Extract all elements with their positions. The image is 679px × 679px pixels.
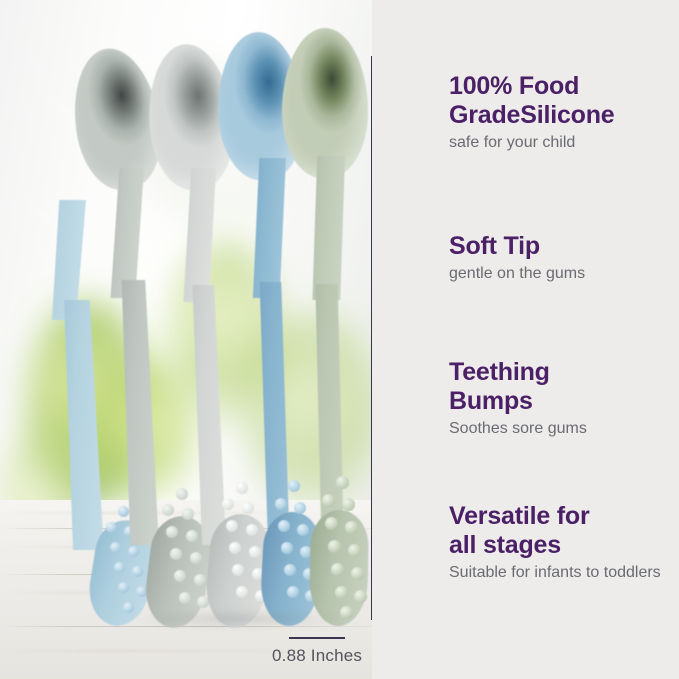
teething-bumps (310, 476, 368, 624)
feature-title: Versatile forall stages (449, 502, 674, 560)
product-photo (0, 0, 372, 679)
feature-title-line1: Versatile for (449, 502, 590, 530)
feature-panel: 100% FoodGradeSilicone safe for your chi… (372, 0, 679, 679)
feature-teething-bumps: TeethingBumps Soothes sore gums (449, 358, 674, 439)
feature-title-line1: 100% Food (449, 72, 579, 100)
feature-food-grade-silicone: 100% FoodGradeSilicone safe for your chi… (449, 72, 674, 153)
feature-subtitle: Soothes sore gums (449, 419, 674, 439)
feature-subtitle: Suitable for infants to toddlers (449, 563, 674, 583)
width-dimension-label: 0.88 Inches (272, 646, 362, 666)
feature-title-line1: Teething (449, 358, 550, 386)
width-dimension-line (289, 637, 345, 639)
contact-shadow (88, 608, 372, 630)
feature-title: Soft Tip (449, 232, 674, 261)
feature-title-line2: Bumps (449, 387, 533, 415)
feature-title: 100% FoodGradeSilicone (449, 72, 674, 130)
feature-subtitle: gentle on the gums (449, 264, 674, 284)
feature-versatile-all-stages: Versatile forall stages Suitable for inf… (449, 502, 674, 583)
product-infographic: 6.25 Inches 0.88 Inches 100% FoodGradeSi… (0, 0, 679, 679)
feature-title-line2: GradeSilicone (449, 101, 615, 129)
feature-soft-tip: Soft Tip gentle on the gums (449, 232, 674, 284)
feature-title-line1: Soft Tip (449, 232, 540, 260)
feature-subtitle: safe for your child (449, 133, 674, 153)
feature-title-line2: all stages (449, 531, 561, 559)
teething-bumps (210, 480, 268, 624)
feature-title: TeethingBumps (449, 358, 674, 416)
